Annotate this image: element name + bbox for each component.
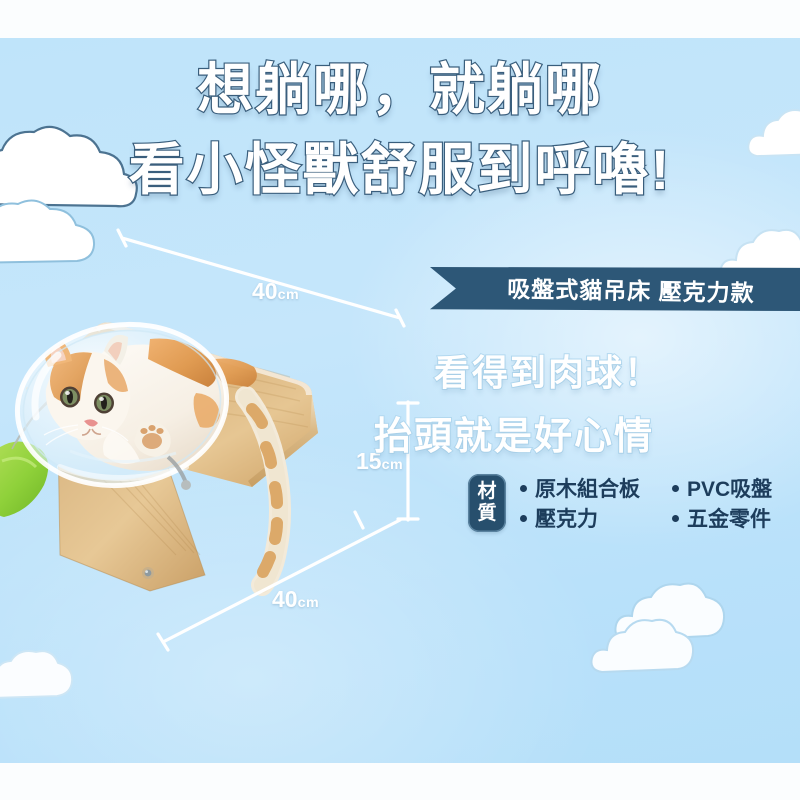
- bullet-icon: [672, 485, 679, 492]
- material-item: 五金零件: [672, 503, 800, 533]
- material-badge-char-2: 質: [477, 503, 496, 525]
- bullet-icon: [520, 485, 527, 492]
- product-name-ribbon: 吸盤式貓吊床 壓克力款: [430, 267, 800, 311]
- ribbon-label: 吸盤式貓吊床 壓克力款: [472, 264, 791, 314]
- material-item-label: 壓克力: [535, 503, 598, 533]
- material-item: 原木組合板: [520, 473, 672, 503]
- headline-line-2: 看小怪獸舒服到呼嚕!: [0, 138, 800, 202]
- material-item-label: PVC吸盤: [687, 473, 772, 503]
- material-item: PVC吸盤: [672, 473, 800, 503]
- top-white-band: [0, 0, 800, 38]
- bullet-icon: [520, 515, 527, 522]
- dimension-label-bottom: 40cm: [272, 586, 319, 613]
- product-advertisement-banner: 40cm 15cm 40cm 想躺哪，就躺哪 看小怪獸舒服到呼嚕! 吸盤式貓吊床…: [0, 0, 800, 800]
- material-item-label: 原木組合板: [535, 473, 640, 503]
- sub-headline-line-2: 抬頭就是好心情: [0, 405, 800, 460]
- headline-line-1: 想躺哪，就躺哪: [0, 58, 800, 122]
- bullet-icon: [672, 515, 679, 522]
- material-item: 壓克力: [520, 503, 672, 533]
- sub-headline-line-1: 看得到肉球！: [0, 344, 800, 396]
- material-item-label: 五金零件: [687, 503, 771, 533]
- material-badge: 材 質: [468, 474, 506, 532]
- material-list: 原木組合板 PVC吸盤 壓克力 五金零件: [520, 473, 800, 533]
- bottom-white-band: [0, 763, 800, 800]
- material-badge-char-1: 材: [477, 481, 496, 503]
- material-spec-block: 材 質 原木組合板 PVC吸盤 壓克力 五金零件: [468, 470, 788, 536]
- dimension-label-top: 40cm: [252, 278, 299, 305]
